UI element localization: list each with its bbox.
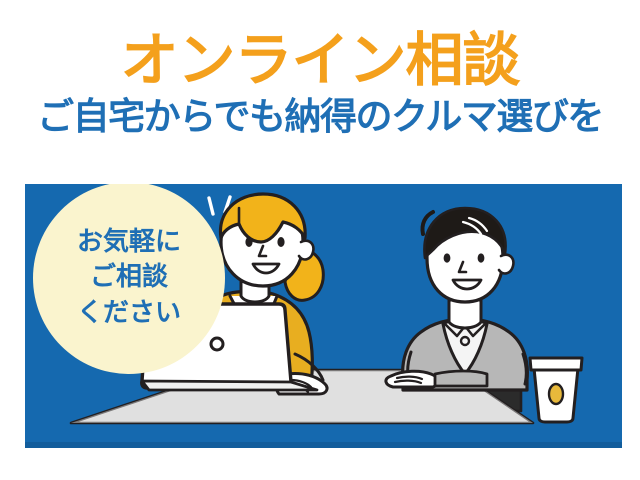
man-hand-left (386, 371, 438, 387)
coffee-cup-logo (549, 384, 563, 404)
coffee-cup-lid (530, 358, 582, 370)
man-eye-right (478, 253, 485, 262)
illustration-panel: お気軽に ご相談 ください (25, 184, 622, 448)
consultation-badge: お気軽に ご相談 ください (33, 184, 225, 374)
badge-line-1: お気軽に (77, 225, 181, 260)
man-shirt-button (461, 337, 469, 345)
laptop-logo (211, 338, 223, 350)
badge-line-3: ください (77, 296, 181, 331)
banner-header: オンライン相談 ご自宅からでも納得のクルマ選びを (0, 0, 640, 138)
banner-subheadline: ご自宅からでも納得のクルマ選びを (0, 91, 640, 138)
woman-eye-right (277, 237, 284, 247)
online-consultation-banner: オンライン相談 ご自宅からでも納得のクルマ選びを (0, 0, 640, 480)
man-eye-left (444, 253, 451, 262)
woman-eye-left (245, 237, 252, 247)
badge-line-2: ご相談 (90, 260, 168, 295)
laptop-base (142, 381, 317, 390)
banner-headline: オンライン相談 (0, 0, 640, 91)
man-forearm-right (435, 371, 487, 386)
